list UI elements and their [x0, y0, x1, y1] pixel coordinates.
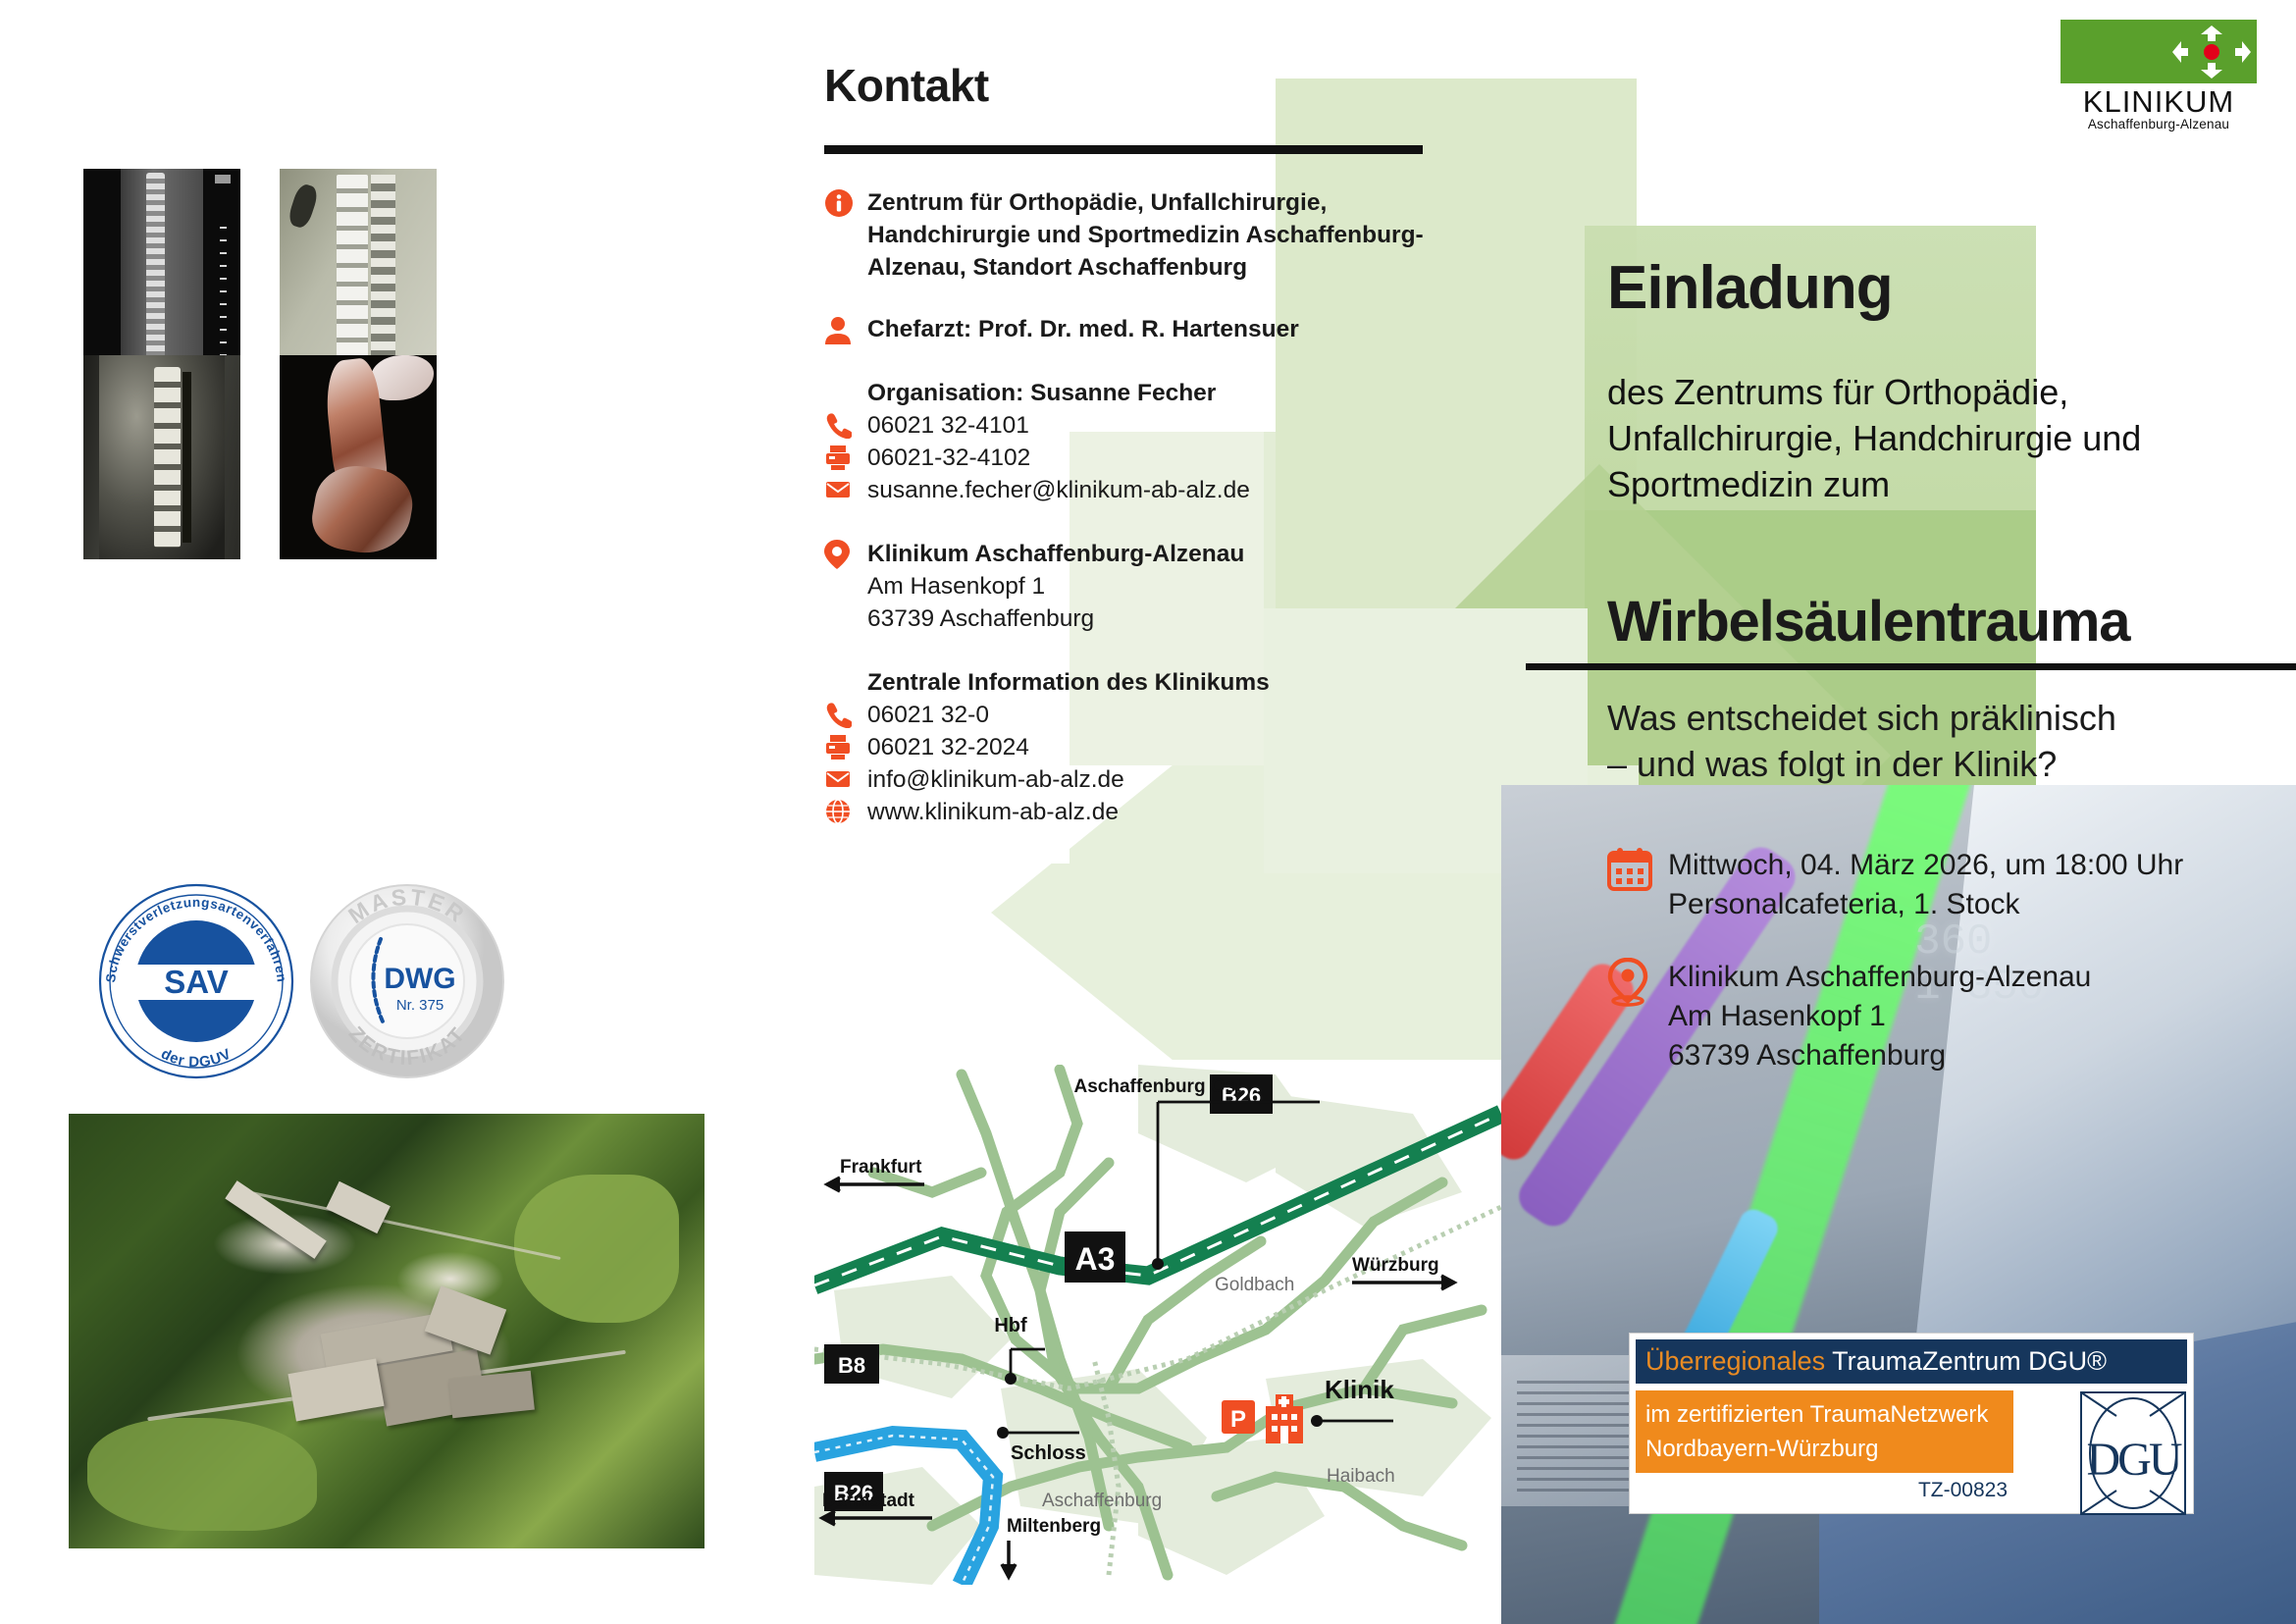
contact-zentrale-website: www.klinikum-ab-alz.de — [824, 796, 1452, 828]
calendar-icon — [1607, 846, 1668, 896]
event-city: 63739 Aschaffenburg — [1668, 1036, 2091, 1075]
zentrale-website: www.klinikum-ab-alz.de — [867, 796, 1119, 828]
map-label-hbf: Hbf — [994, 1315, 1027, 1336]
department-line-1: Zentrum für Orthopädie, Unfallchirurgie, — [867, 186, 1424, 219]
map-label-haibach: Haibach — [1327, 1466, 1395, 1487]
invitation-subtitle-line-1: des Zentrums für Orthopädie, — [1607, 369, 2235, 415]
dgu-certificate-id: TZ-00823 — [1636, 1473, 2013, 1502]
event-venue-row: Klinikum Aschaffenburg-Alzenau Am Hasenk… — [1607, 958, 2294, 1075]
contact-entry-organisation: Organisation: Susanne Fecher — [824, 377, 1452, 409]
event-date: Mittwoch, 04. März 2026, um 18:00 Uhr — [1668, 846, 2183, 885]
kontakt-heading: Kontakt — [824, 59, 989, 112]
map-label-klinik: Klinik — [1325, 1375, 1394, 1404]
event-venue: Klinikum Aschaffenburg-Alzenau — [1668, 958, 2091, 997]
dwg-seal-number: Nr. 375 — [396, 997, 444, 1014]
contact-entry-address: Klinikum Aschaffenburg-Alzenau Am Hasenk… — [824, 538, 1452, 635]
zentrale-email: info@klinikum-ab-alz.de — [867, 763, 1124, 796]
sav-seal: SAV Schwerstverletzungsartenverfahren de… — [93, 878, 299, 1084]
map-label-miltenberg: Miltenberg — [1007, 1516, 1101, 1537]
invitation-subtitle: des Zentrums für Orthopädie, Unfallchiru… — [1607, 369, 2235, 507]
map-label-frankfurt: Frankfurt — [840, 1157, 922, 1178]
invitation-kicker: Einladung — [1607, 253, 1893, 323]
map-shield-a3-label: A3 — [1075, 1241, 1116, 1277]
logo-subtitle: Aschaffenburg-Alzenau — [2061, 117, 2257, 131]
map-label-aschaffenburg: Aschaffenburg — [1042, 1491, 1162, 1511]
dgu-network-line-1: im zertifizierten TraumaNetzwerk — [1645, 1397, 2004, 1432]
contact-entry-chefarzt: Chefarzt: Prof. Dr. med. R. Hartensuer — [824, 313, 1452, 345]
chefarzt-label: Chefarzt: Prof. Dr. med. R. Hartensuer — [867, 313, 1299, 345]
contact-entry-department: Zentrum für Orthopädie, Unfallchirurgie,… — [824, 186, 1452, 284]
dgu-header: Überregionales TraumaZentrum DGU® — [1636, 1339, 2187, 1384]
dgu-network-band: im zertifizierten TraumaNetzwerk Nordbay… — [1636, 1390, 2013, 1473]
logo-cross-mark-icon — [2170, 24, 2253, 80]
location-pin-icon — [1607, 958, 1668, 1012]
dgu-header-highlight: Überregionales — [1645, 1346, 1825, 1376]
logo-wordmark: KLINIKUM — [2061, 84, 2257, 120]
dgu-trauma-certificate: Überregionales TraumaZentrum DGU® im zer… — [1629, 1333, 2194, 1514]
location-pin-icon — [824, 538, 867, 569]
department-line-3: Alzenau, Standort Aschaffenburg — [867, 251, 1424, 284]
address-name: Klinikum Aschaffenburg-Alzenau — [867, 538, 1244, 570]
contact-organisation-email: susanne.fecher@klinikum-ab-alz.de — [824, 474, 1452, 506]
fax-icon — [824, 731, 867, 760]
mri-thoracic-spine-image — [280, 169, 437, 363]
invitation-title-divider — [1526, 663, 2296, 670]
dgu-emblem-icon: DGU — [2079, 1390, 2187, 1521]
event-street: Am Hasenkopf 1 — [1668, 997, 2091, 1036]
map-label-aschaffenburg-ost: Aschaffenburg Ost — [1073, 1076, 1242, 1097]
sav-seal-center: SAV — [164, 964, 228, 1000]
invitation-question: Was entscheidet sich präklinisch – und w… — [1607, 695, 2255, 787]
contact-entry-zentrale: Zentrale Information des Klinikums — [824, 666, 1452, 699]
info-icon — [824, 186, 867, 218]
address-city: 63739 Aschaffenburg — [867, 602, 1244, 635]
event-datetime-row: Mittwoch, 04. März 2026, um 18:00 Uhr Pe… — [1607, 846, 2294, 924]
dgu-network-line-2: Nordbayern-Würzburg — [1645, 1432, 2004, 1466]
dwg-seal-center: DWG — [384, 963, 455, 995]
zentrale-phone: 06021 32-0 — [867, 699, 989, 731]
event-details: Mittwoch, 04. März 2026, um 18:00 Uhr Pe… — [1607, 846, 2294, 1075]
zentrale-fax: 06021 32-2024 — [867, 731, 1029, 763]
person-icon — [824, 313, 867, 344]
map-parking-label: P — [1230, 1406, 1246, 1433]
organisation-fax: 06021-32-4102 — [867, 442, 1030, 474]
mail-icon — [824, 763, 867, 793]
event-room: Personalcafeteria, 1. Stock — [1668, 885, 2183, 924]
dwg-master-seal: DWG Nr. 375 MASTER ZERTIFIKAT — [304, 878, 510, 1084]
mail-icon — [824, 474, 867, 503]
contact-zentrale-phone: 06021 32-0 — [824, 699, 1452, 731]
mri-lumbar-spine-image — [83, 355, 240, 559]
contact-zentrale-fax: 06021 32-2024 — [824, 731, 1452, 763]
organisation-email: susanne.fecher@klinikum-ab-alz.de — [867, 474, 1250, 506]
invitation-title: Wirbelsäulentrauma — [1607, 589, 2129, 655]
map-label-darmstadt: Darmstadt — [822, 1491, 915, 1511]
kontakt-divider — [824, 145, 1423, 154]
invitation-subtitle-line-2: Unfallchirurgie, Handchirurgie und — [1607, 415, 2235, 461]
invitation-question-line-2: – und was folgt in der Klinik? — [1607, 741, 2255, 787]
phone-icon — [824, 699, 867, 728]
location-map: A3 B26 B8 B26 Frankfurt Würzburg Darmsta… — [814, 1065, 1501, 1585]
map-shield-b8-label: B8 — [838, 1353, 865, 1378]
aerial-hospital-photo — [69, 1114, 704, 1548]
map-label-schloss: Schloss — [1011, 1442, 1086, 1464]
address-street: Am Hasenkopf 1 — [867, 570, 1244, 602]
globe-icon — [824, 796, 867, 825]
invitation-question-line-1: Was entscheidet sich präklinisch — [1607, 695, 2255, 741]
fax-icon — [824, 442, 867, 471]
klinikum-logo: KLINIKUM Aschaffenburg-Alzenau — [2061, 20, 2257, 123]
dgu-header-rest: TraumaZentrum DGU® — [1832, 1346, 2107, 1376]
ct-sagittal-spine-image — [83, 169, 240, 363]
organisation-phone: 06021 32-4101 — [867, 409, 1029, 442]
invitation-subtitle-line-3: Sportmedizin zum — [1607, 461, 2235, 507]
organisation-label: Organisation: Susanne Fecher — [867, 377, 1216, 409]
ct-3d-reconstruction-image — [280, 355, 437, 559]
map-label-wuerzburg: Würzburg — [1352, 1255, 1439, 1276]
contact-list: Zentrum für Orthopädie, Unfallchirurgie,… — [824, 186, 1452, 828]
dgu-emblem-label: DGU — [2087, 1434, 2182, 1486]
map-label-goldbach: Goldbach — [1215, 1275, 1294, 1295]
contact-organisation-fax: 06021-32-4102 — [824, 442, 1452, 474]
contact-zentrale-email: info@klinikum-ab-alz.de — [824, 763, 1452, 796]
contact-organisation-phone: 06021 32-4101 — [824, 409, 1452, 442]
phone-icon — [824, 409, 867, 439]
department-line-2: Handchirurgie und Sportmedizin Aschaffen… — [867, 219, 1424, 251]
zentrale-label: Zentrale Information des Klinikums — [867, 666, 1270, 699]
